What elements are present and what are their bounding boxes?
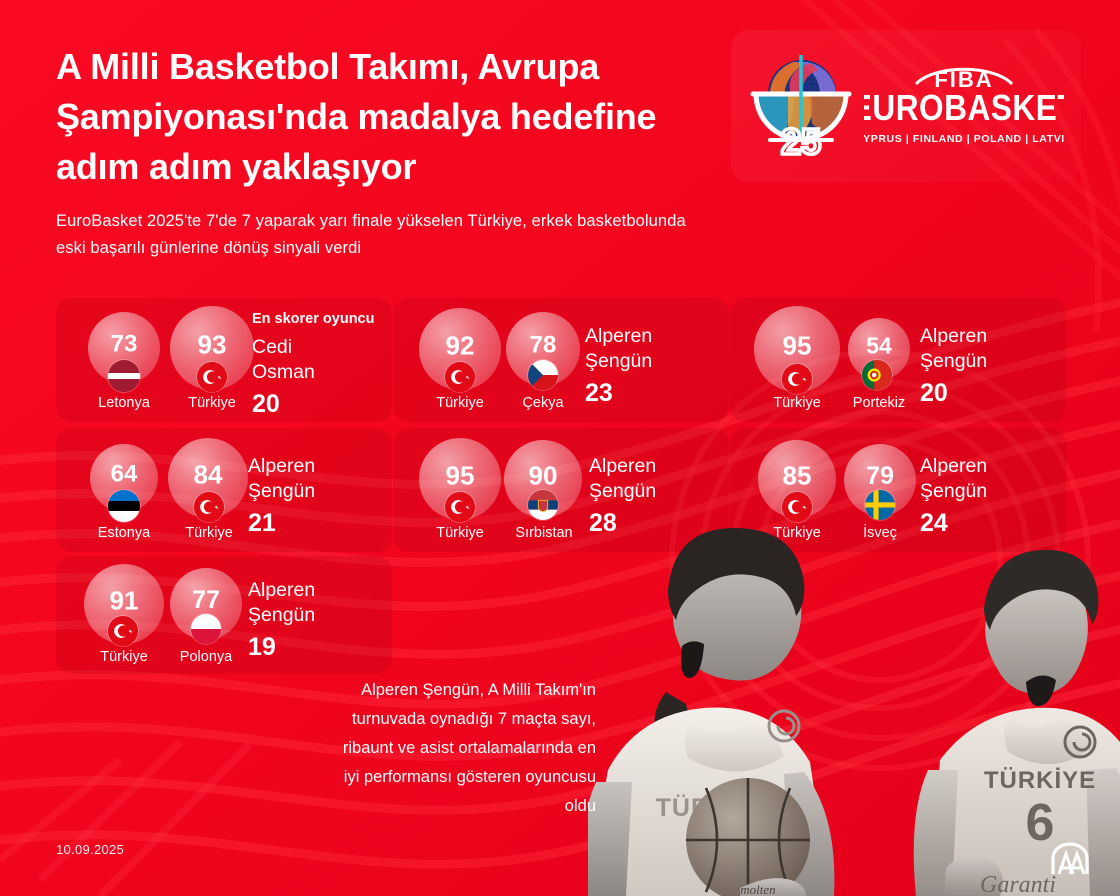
score-right: 93 [170, 331, 254, 357]
player-left: TÜRKİYE molten [588, 528, 884, 896]
score-left: 95 [419, 462, 501, 488]
flag-turkiye-icon [194, 492, 224, 522]
team-name-right: Çekya [493, 396, 593, 411]
infographic-canvas: A Milli Basketbol Takımı, Avrupa Şampiyo… [0, 0, 1120, 896]
team-name-right: Polonya [156, 650, 256, 665]
host-countries-text: CYPRUS | FINLAND | POLAND | LATVIA [864, 133, 1064, 145]
top-scorer-name-line2: Şengün [920, 349, 1054, 374]
top-scorer-name-line1: Cedi [252, 335, 386, 360]
score-left: 73 [88, 333, 160, 357]
top-scorer-block: Alperen Şengün 21 [248, 454, 382, 538]
top-scorer-points: 21 [248, 508, 382, 538]
svg-text:TÜRKİYE: TÜRKİYE [984, 767, 1096, 794]
flag-portugal-icon [862, 360, 892, 390]
svg-text:molten: molten [740, 882, 775, 896]
svg-text:Garanti: Garanti [980, 872, 1056, 896]
team-name-right: Portekiz [829, 396, 929, 411]
score-left: 95 [754, 332, 840, 358]
score-right: 84 [168, 461, 248, 487]
flag-czechia-icon [528, 360, 558, 390]
page-subtitle: EuroBasket 2025'te 7'de 7 yaparak yarı f… [56, 208, 696, 262]
flag-latvia-icon [108, 360, 140, 392]
aa-logo-icon [1049, 842, 1091, 876]
flag-turkiye-icon [445, 362, 475, 392]
top-scorer-points: 19 [248, 632, 382, 662]
top-scorer-name-line1: Alperen [248, 578, 382, 603]
top-scorer-points: 20 [920, 378, 1054, 408]
score-right: 90 [504, 462, 582, 488]
team-name-right: Türkiye [159, 526, 259, 541]
score-left: 64 [90, 463, 158, 487]
eurobasket-text: EUROBASKET [864, 88, 1064, 129]
top-scorer-name-line2: Şengün [248, 603, 382, 628]
eurobasket-logo-plate: 25 FIBA EUROBASKET CYPRUS | FINLAND | PO… [731, 30, 1081, 182]
flag-turkiye-icon [108, 616, 138, 646]
match-card[interactable]: 92 Türkiye 78 Çekya Alperen Şengün 23 [393, 298, 729, 422]
score-left: 92 [419, 332, 501, 358]
score-left: 91 [84, 587, 164, 613]
match-card[interactable]: 95 Türkiye 54 Portekiz Alperen Şengün 20 [730, 298, 1066, 422]
top-scorer-name-line2: Osman [252, 360, 386, 385]
team-name-left: Letonya [74, 396, 174, 411]
flag-turkiye-icon [445, 492, 475, 522]
top-scorer-block: En skorer oyuncu Cedi Osman 20 [252, 310, 386, 419]
top-scorer-name-line2: Şengün [585, 349, 719, 374]
top-scorer-name-line2: Şengün [248, 479, 382, 504]
top-scorer-points: 23 [585, 378, 719, 408]
date-stamp: 10.09.2025 [56, 842, 124, 857]
eurobasket-ball-25-icon: 25 [748, 50, 854, 162]
flag-serbia-icon [528, 490, 558, 520]
flag-estonia-icon [108, 490, 140, 522]
match-card[interactable]: 64 Estonya 84 Türkiye Alperen Şengün 21 [56, 428, 392, 552]
top-scorer-name-line1: Alperen [920, 324, 1054, 349]
top-scorer-block: Alperen Şengün 20 [920, 324, 1054, 408]
flag-turkiye-icon [197, 362, 227, 392]
top-scorer-kicker: En skorer oyuncu [252, 310, 386, 329]
top-scorer-name-line1: Alperen [585, 324, 719, 349]
turkiye-players-photo: 6 TÜRKİYE Garanti TÜRKİYE [588, 470, 1120, 896]
score-right: 77 [170, 588, 242, 613]
flag-turkiye-icon [782, 364, 812, 394]
top-scorer-block: Alperen Şengün 23 [585, 324, 719, 408]
flag-poland-icon [191, 614, 221, 644]
score-right: 54 [848, 334, 910, 357]
team-name-right: Türkiye [162, 396, 262, 411]
score-right: 78 [506, 334, 580, 358]
summary-caption: Alperen Şengün, A Milli Takım'ın turnuva… [326, 676, 596, 821]
top-scorer-block: Alperen Şengün 19 [248, 578, 382, 662]
match-card[interactable]: 73 Letonya 93 Türkiye En skorer oyuncu C… [56, 298, 392, 422]
match-card[interactable]: 91 Türkiye 77 Polonya Alperen Şengün 19 [56, 556, 392, 674]
page-title: A Milli Basketbol Takımı, Avrupa Şampiyo… [56, 42, 676, 192]
team-name-right: Sırbistan [492, 526, 596, 541]
top-scorer-name-line1: Alperen [248, 454, 382, 479]
eurobasket-wordmark: FIBA EUROBASKET CYPRUS | FINLAND | POLAN… [864, 60, 1064, 152]
top-scorer-points: 20 [252, 389, 386, 419]
